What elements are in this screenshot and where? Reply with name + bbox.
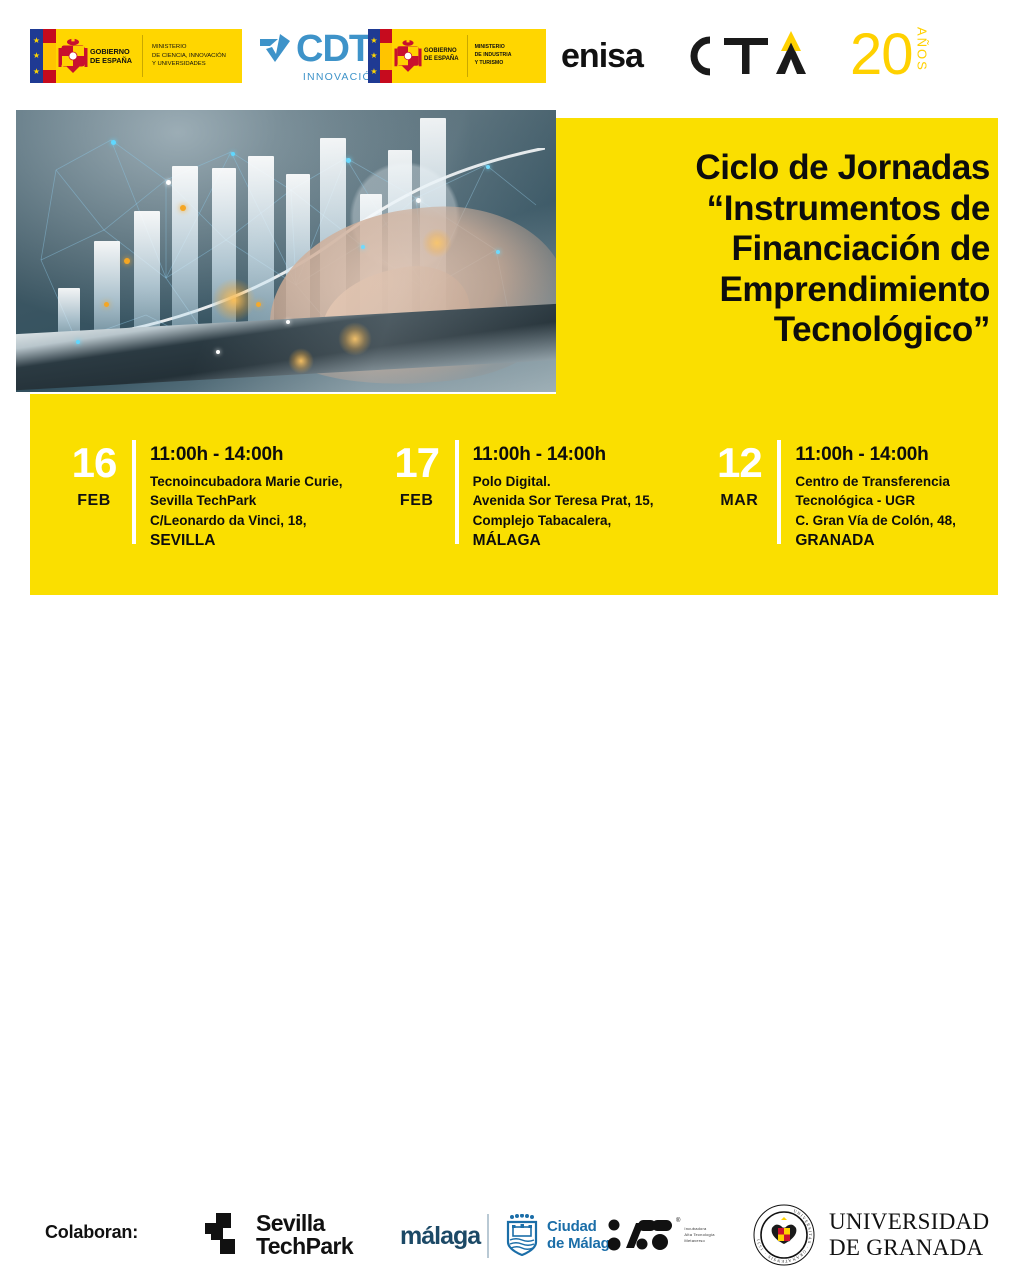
ugr-wordmark: UNIVERSIDAD DE GRANADA [829, 1209, 989, 1261]
event-month: FEB [58, 492, 130, 510]
event-poster: ★★★ [0, 0, 1024, 683]
footer-divider [487, 1214, 489, 1258]
title-line-3: Financiación de [566, 229, 990, 270]
event-item: 17 FEB 11:00h - 14:00h Polo Digital. Ave… [353, 440, 676, 590]
spanish-flag-icon-2: ★★★ [368, 29, 392, 83]
cdti-arrow-icon [258, 32, 294, 66]
photo-light-veil [16, 110, 556, 392]
event-details: 11:00h - 14:00h Polo Digital. Avenida So… [473, 440, 654, 590]
event-dates-list: 16 FEB 11:00h - 14:00h Tecnoincubadora M… [30, 440, 998, 590]
ministerio-ciencia-text: MINISTERIO DE CIENCIA, INNOVACIÓN Y UNIV… [143, 29, 226, 83]
ministerio-industria-line-2: DE INDUSTRIA [475, 52, 512, 60]
event-item: 16 FEB 11:00h - 14:00h Tecnoincubadora M… [30, 440, 353, 590]
collaborators-footer: Colaboran: Sevilla TechPark málaga [0, 600, 1024, 683]
event-date: 16 FEB [58, 440, 130, 590]
cta-years-word: AÑOS [916, 27, 929, 72]
logo-iat: ® Incubadora Alta Tecnología Metaverso [608, 1218, 715, 1252]
event-details: 11:00h - 14:00h Centro de Transferencia … [795, 440, 956, 590]
event-time: 11:00h - 14:00h [150, 444, 343, 467]
event-time: 11:00h - 14:00h [473, 444, 654, 467]
event-divider [777, 440, 781, 544]
event-address-line-3: C/Leonardo da Vinci, 18, [150, 511, 343, 531]
ministerio-line-3: Y UNIVERSIDADES [152, 60, 226, 69]
malaga-shield-icon [505, 1214, 539, 1256]
spanish-flag-icon: ★★★ [30, 29, 56, 83]
logo-universidad-de-granada: UNIVERSITAS · GRANATENSIS · 1531 UNIVERS… [753, 1204, 989, 1266]
hero-photo-bar-chart-laptop [16, 110, 556, 392]
iat-sub-line-3: Metaverso [684, 1238, 714, 1244]
collaborators-label: Colaboran: [45, 1222, 138, 1243]
logo-enisa: enisa [546, 29, 658, 83]
event-city: GRANADA [795, 530, 956, 552]
title-line-1: Ciclo de Jornadas [566, 148, 990, 189]
event-date: 17 FEB [381, 440, 453, 590]
ugr-seal-icon: UNIVERSITAS · GRANATENSIS · 1531 [753, 1204, 815, 1266]
eu-stars-icon-2: ★★★ [368, 29, 380, 83]
event-item: 12 MAR 11:00h - 14:00h Centro de Transfe… [675, 440, 998, 590]
logo-cdti: CDTI INNOVACIÓN [258, 30, 381, 83]
spain-coat-of-arms-icon-2 [392, 29, 424, 83]
ministerio-industria-line-3: Y TURISMO [475, 60, 512, 68]
event-day: 12 [703, 444, 775, 483]
ministerio-industria-text: MINISTERIO DE INDUSTRIA Y TURISMO [468, 29, 512, 83]
logo-malaga: málaga [400, 1222, 480, 1251]
event-address-line-1: Polo Digital. [473, 472, 654, 492]
sevilla-techpark-squares-icon [205, 1213, 247, 1257]
event-divider [132, 440, 136, 544]
title-line-5: Tecnológico” [566, 310, 990, 351]
event-day: 16 [58, 444, 130, 483]
gobierno-line-2: DE ESPAÑA [90, 56, 132, 65]
ugr-line-2: DE GRANADA [829, 1235, 989, 1261]
ministerio-industria-line-1: MINISTERIO [475, 44, 512, 52]
event-address-line-1: Tecnoincubadora Marie Curie, [150, 472, 343, 492]
techpark-line-2: TechPark [256, 1235, 353, 1258]
event-month: MAR [703, 492, 775, 510]
gobierno-de-espana-text-2: GOBIERNO DE ESPAÑA [424, 29, 459, 83]
event-address-line-3: C. Gran Vía de Colón, 48, [795, 511, 956, 531]
event-city: MÁLAGA [473, 530, 654, 552]
gobierno-de-espana-text: GOBIERNO DE ESPAÑA [90, 29, 132, 83]
logo-cta: 20 AÑOS [676, 26, 929, 84]
sevilla-techpark-wordmark: Sevilla TechPark [256, 1212, 353, 1259]
techpark-line-1: Sevilla [256, 1212, 353, 1235]
event-day: 17 [381, 444, 453, 483]
event-time: 11:00h - 14:00h [795, 444, 956, 467]
event-details: 11:00h - 14:00h Tecnoincubadora Marie Cu… [150, 440, 343, 590]
sponsor-logo-bar: ★★★ [0, 0, 1024, 110]
iat-registered-mark: ® [676, 1218, 680, 1224]
event-address-line-2: Tecnológica - UGR [795, 491, 956, 511]
event-address-line-3: Complejo Tabacalera, [473, 511, 654, 531]
enisa-wordmark: enisa [561, 37, 643, 76]
iat-mark-icon [608, 1218, 674, 1252]
logo-sevilla-techpark: Sevilla TechPark [205, 1212, 353, 1259]
iat-subtitle: Incubadora Alta Tecnología Metaverso [684, 1226, 714, 1244]
event-divider [455, 440, 459, 544]
gobierno-line-1: GOBIERNO [90, 47, 132, 56]
gobierno-industria-line-2: DE ESPAÑA [424, 56, 459, 64]
event-month: FEB [381, 492, 453, 510]
ugr-line-1: UNIVERSIDAD [829, 1209, 989, 1235]
spain-coat-of-arms-icon [56, 29, 90, 83]
logo-ciudad-de-malaga: Ciudad de Málaga [505, 1214, 618, 1256]
cta-years-number: 20 [850, 26, 913, 84]
event-address-line-1: Centro de Transferencia [795, 472, 956, 492]
gobierno-industria-line-1: GOBIERNO [424, 48, 459, 56]
event-address-line-2: Sevilla TechPark [150, 491, 343, 511]
event-address-line-2: Avenida Sor Teresa Prat, 15, [473, 491, 654, 511]
ministerio-line-2: DE CIENCIA, INNOVACIÓN [152, 52, 226, 61]
ministerio-line-1: MINISTERIO [152, 43, 226, 52]
logo-gobierno-ciencia: ★★★ [30, 29, 242, 83]
event-city: SEVILLA [150, 530, 343, 552]
page-title: Ciclo de Jornadas “Instrumentos de Finan… [566, 148, 990, 351]
title-line-2: “Instrumentos de [566, 189, 990, 230]
event-date: 12 MAR [703, 440, 775, 590]
logo-gobierno-industria: ★★★ [368, 29, 546, 83]
cdti-subtitle: INNOVACIÓN [258, 72, 381, 83]
title-line-4: Emprendimiento [566, 270, 990, 311]
cta-letters-icon [676, 28, 836, 84]
eu-stars-icon: ★★★ [30, 29, 43, 83]
